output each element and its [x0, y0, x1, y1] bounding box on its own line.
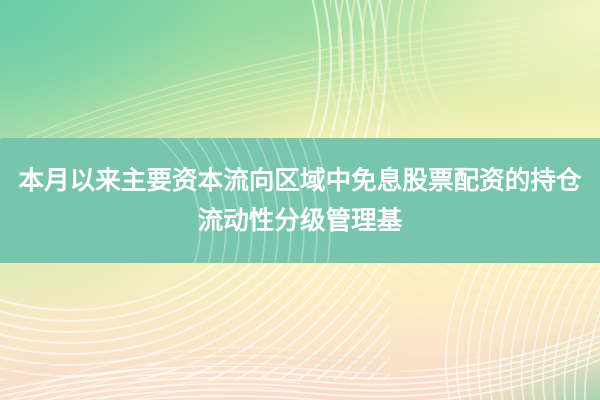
- caption-text-block: 本月以来主要资本流向区域中免息股票配资的持仓 流动性分级管理基: [0, 138, 600, 263]
- moire-arcs-bottom-left: [0, 300, 300, 400]
- caption-line-2: 流动性分级管理基: [198, 202, 403, 240]
- caption-band: 本月以来主要资本流向区域中免息股票配资的持仓 流动性分级管理基: [0, 138, 600, 263]
- promo-banner: 本月以来主要资本流向区域中免息股票配资的持仓 流动性分级管理基: [0, 0, 600, 400]
- moire-waves-bottom: [0, 250, 600, 400]
- caption-line-1: 本月以来主要资本流向区域中免息股票配资的持仓: [18, 162, 581, 200]
- moire-arcs-bottom-right: [395, 240, 600, 400]
